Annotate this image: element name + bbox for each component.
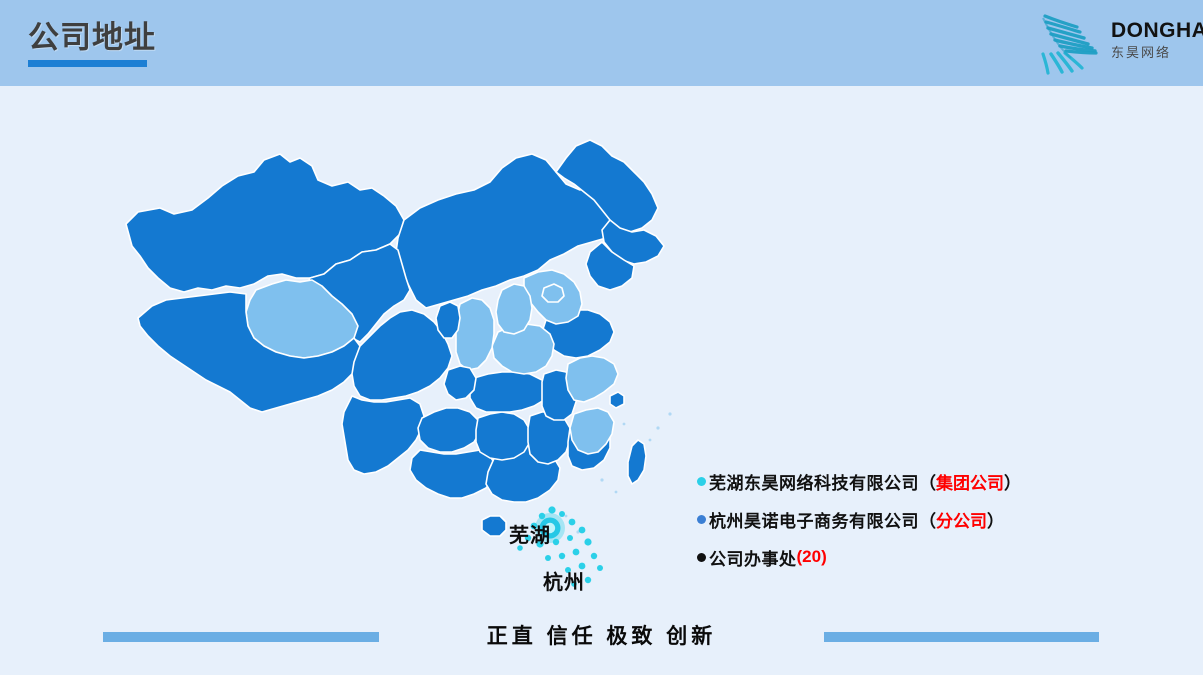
province-henan: [492, 324, 554, 374]
city-label-hangzhou: 杭州: [543, 573, 585, 593]
slide-root: 公司地址: [0, 0, 1203, 675]
page-title-wrapper: 公司地址: [28, 22, 156, 67]
legend-company-tag: 分公司: [936, 507, 987, 532]
province-hainan: [482, 516, 506, 536]
province-guangxi: [410, 450, 496, 498]
legend-company-name: 公司办事处: [709, 545, 797, 570]
legend-item-group-company: 芜湖东昊网络科技有限公司 （ 集团公司 ）: [697, 462, 1097, 500]
page-title: 公司地址: [28, 22, 156, 53]
legend-bullet-icon: [697, 553, 706, 562]
municipality-shanghai: [610, 392, 624, 408]
province-hunan: [476, 412, 530, 460]
legend-company-name: 杭州昊诺电子商务有限公司: [709, 507, 919, 532]
logo-name: DONGHAO: [1111, 20, 1193, 41]
legend: 芜湖东昊网络科技有限公司 （ 集团公司 ） 杭州昊诺电子商务有限公司 （ 分公司…: [697, 462, 1097, 576]
legend-office-count: (20): [797, 547, 827, 567]
legend-item-branch-company: 杭州昊诺电子商务有限公司 （ 分公司 ）: [697, 500, 1097, 538]
legend-paren-open: （: [919, 469, 936, 494]
province-hubei: [470, 372, 548, 412]
city-label-wuhu: 芜湖: [509, 526, 551, 546]
header-band: 公司地址: [0, 0, 1203, 86]
legend-paren-open: （: [919, 507, 936, 532]
legend-item-offices: 公司办事处 (20): [697, 538, 1097, 576]
title-underline: [28, 60, 147, 67]
province-guizhou: [418, 408, 480, 452]
legend-paren-close: ）: [1004, 469, 1021, 494]
legend-bullet-icon: [697, 477, 706, 486]
municipality-beijing: [542, 284, 564, 302]
logo-subtitle: 东昊网络: [1111, 46, 1193, 59]
legend-bullet-icon: [697, 515, 706, 524]
brand-logo: DONGHAO 东昊网络: [1015, 6, 1193, 78]
province-ningxia: [436, 302, 460, 338]
province-taiwan: [628, 440, 646, 484]
footer-bar-right: [824, 632, 1099, 642]
province-shaanxi: [456, 298, 494, 370]
legend-company-name: 芜湖东昊网络科技有限公司: [709, 469, 919, 494]
legend-company-tag: 集团公司: [936, 469, 1004, 494]
china-map: 芜湖 杭州: [104, 128, 704, 618]
logo-text: DONGHAO 东昊网络: [1111, 20, 1193, 59]
wing-fan-icon: [1037, 8, 1115, 76]
legend-paren-close: ）: [987, 507, 1004, 532]
province-shanxi: [496, 284, 532, 334]
